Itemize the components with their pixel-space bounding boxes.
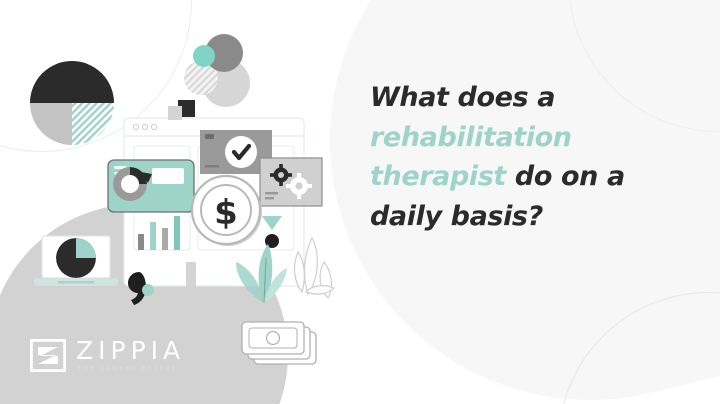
- headline-accent-2: therapist: [370, 161, 506, 192]
- dot-teal: [142, 284, 154, 296]
- svg-text:$: $: [214, 193, 238, 233]
- headline-line-3-tail: do on a: [506, 161, 625, 192]
- headline-line-1: What does a: [370, 78, 680, 118]
- headline-accent-1: rehabilitation: [370, 122, 572, 153]
- zippia-tagline: THE CAREER EXPERT: [78, 367, 185, 372]
- headline-line-2: rehabilitation: [370, 118, 680, 158]
- slide-canvas: $: [0, 0, 720, 404]
- zippia-logo-text: ZIPPIA THE CAREER EXPERT: [76, 338, 185, 372]
- photo-donut-card: [108, 160, 194, 212]
- circle-cluster: [184, 34, 250, 107]
- headline-line-3: therapist do on a: [370, 157, 680, 197]
- zippia-logo[interactable]: ZIPPIA THE CAREER EXPERT: [30, 338, 185, 372]
- laptop-with-pie-chart: [34, 236, 118, 286]
- zippia-wordmark: ZIPPIA: [76, 338, 185, 363]
- bar-gray-accent: [186, 262, 196, 288]
- zippia-z-monogram-icon: [30, 339, 66, 372]
- cash-banknotes-stack: [242, 322, 316, 364]
- pie-chart-large: [30, 61, 114, 145]
- circle-teal-small: [193, 45, 215, 67]
- dollar-coin: $: [192, 176, 262, 246]
- square-gray: [168, 106, 182, 120]
- headline-line-4: daily basis?: [370, 197, 680, 237]
- settings-gears-card: [260, 158, 322, 206]
- headline: What does a rehabilitation therapist do …: [370, 78, 680, 237]
